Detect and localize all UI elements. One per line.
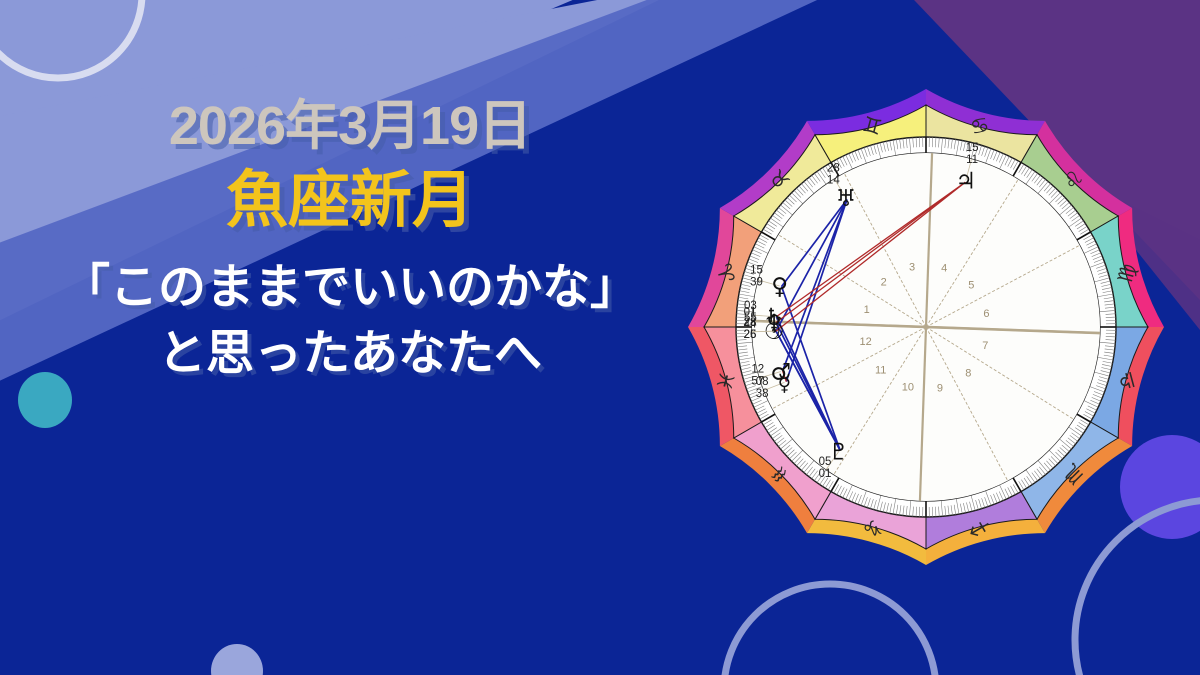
astrology-chart-wheel: ♈♉♊♋♌♍♎♏♐♑♒♓ ♀1539♄0355♆0144☉2826☽2825♂1… — [686, 82, 1166, 572]
slide-canvas: 2026年3月19日 魚座新月 「このままでいいのかな」 と思ったあなたへ ♈♉… — [0, 0, 1200, 675]
planet-degree-mars: 12 — [751, 364, 764, 376]
headline-text-block: 2026年3月19日 魚座新月 「このままでいいのかな」 と思ったあなたへ — [0, 96, 700, 387]
quote-line-2: と思ったあなたへ — [0, 322, 700, 387]
planet-minute-pluto: 01 — [819, 468, 832, 480]
planet-glyph-jupiter: ♃ — [955, 168, 976, 194]
house-number: 1 — [864, 304, 870, 316]
planet-minute-venus: 39 — [750, 277, 763, 289]
wheel-center-point — [924, 325, 929, 330]
house-number: 4 — [941, 263, 947, 275]
house-number: 12 — [859, 336, 871, 348]
planet-glyph-mercury: ☿ — [777, 370, 791, 396]
house-number: 8 — [965, 367, 971, 379]
house-number: 10 — [902, 381, 914, 393]
house-number: 9 — [937, 382, 943, 394]
moon-phase-line: 魚座新月 — [0, 164, 700, 237]
planet-glyph-moon: ☽ — [764, 319, 785, 345]
house-number: 5 — [968, 280, 974, 292]
planet-degree-pluto: 05 — [819, 456, 832, 468]
planet-degree-uranus: 28 — [827, 162, 840, 174]
planet-degree-venus: 15 — [750, 265, 763, 277]
planet-glyph-pluto: ♇ — [828, 439, 849, 465]
planet-degree-moon: 28 — [744, 317, 757, 329]
planet-glyph-uranus: ♅ — [836, 186, 857, 212]
house-number: 11 — [875, 364, 886, 376]
house-number: 3 — [909, 262, 915, 274]
quote-line-1: 「このままでいいのかな」 — [0, 256, 700, 321]
astrology-wheel-svg: ♈♉♊♋♌♍♎♏♐♑♒♓ ♀1539♄0355♆0144☉2826☽2825♂1… — [686, 82, 1166, 572]
planet-minute-jupiter: 11 — [966, 154, 978, 166]
house-number: 7 — [982, 340, 988, 352]
planet-glyph-venus: ♀ — [771, 274, 788, 300]
planet-minute-uranus: 14 — [827, 174, 840, 186]
date-line: 2026年3月19日 — [0, 96, 700, 156]
house-number: 2 — [881, 277, 887, 289]
planet-minute-mercury: 38 — [756, 388, 769, 400]
planet-degree-jupiter: 15 — [966, 142, 979, 154]
house-number: 6 — [983, 308, 989, 320]
planet-degree-mercury: 08 — [756, 376, 769, 388]
planet-minute-moon: 25 — [744, 329, 757, 341]
